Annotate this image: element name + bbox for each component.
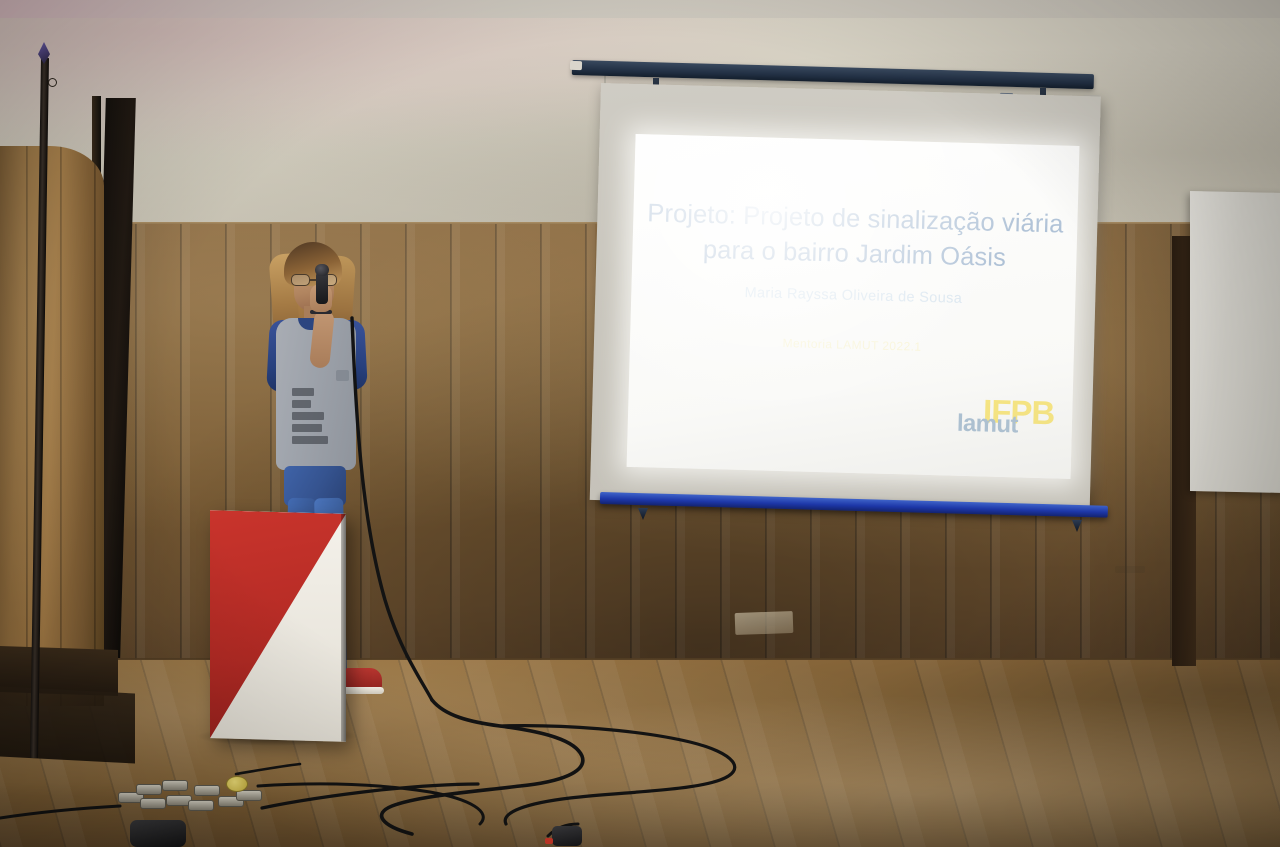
microphone-head-icon	[315, 264, 329, 276]
shirt-logo-patch	[336, 370, 349, 381]
connector	[136, 784, 162, 795]
podium-red-face	[210, 510, 346, 742]
projected-slide-area[interactable]: Projeto: Projeto de sinalização viária p…	[627, 134, 1080, 479]
wood-floor	[0, 660, 1280, 847]
connector	[162, 780, 188, 791]
pole-ring-icon	[48, 78, 57, 87]
slide-logo: IFPB lamut	[937, 393, 1054, 452]
wall-mark	[1115, 566, 1145, 573]
slide-title: Projeto: Projeto de sinalização viária p…	[644, 196, 1066, 277]
glasses-lens-left	[291, 274, 310, 286]
presentation-room-scene: Projeto: Projeto de sinalização viária p…	[0, 0, 1280, 847]
connector	[188, 800, 214, 811]
red-white-podium[interactable]	[210, 510, 346, 742]
shirt-graphic-print	[292, 388, 332, 450]
slide: Projeto: Projeto de sinalização viária p…	[627, 134, 1080, 479]
slide-author: Maria Rayssa Oliveira de Sousa	[643, 282, 1063, 309]
power-plug	[552, 826, 582, 846]
connector	[194, 785, 220, 796]
podium-edge	[341, 514, 346, 742]
wall-tape-patch	[735, 611, 794, 635]
yellow-cable-cap-icon	[226, 776, 248, 792]
glasses-icon	[291, 274, 337, 286]
connector	[140, 798, 166, 809]
curved-wood-partition	[0, 146, 104, 706]
red-indicator-led	[545, 838, 553, 844]
left-floor-shadow	[0, 686, 135, 763]
shoe-right	[340, 668, 382, 689]
white-board-panel	[1190, 191, 1280, 493]
projection-screen-canvas: Projeto: Projeto de sinalização viária p…	[590, 83, 1101, 513]
black-connector-box	[130, 820, 186, 847]
slide-subtitle: Mentoria LAMUT 2022.1	[642, 332, 1062, 357]
lamut-logo-text: lamut	[957, 412, 1019, 438]
rail-end-cap-left	[570, 61, 582, 70]
xlr-connector-bundle	[118, 778, 278, 814]
